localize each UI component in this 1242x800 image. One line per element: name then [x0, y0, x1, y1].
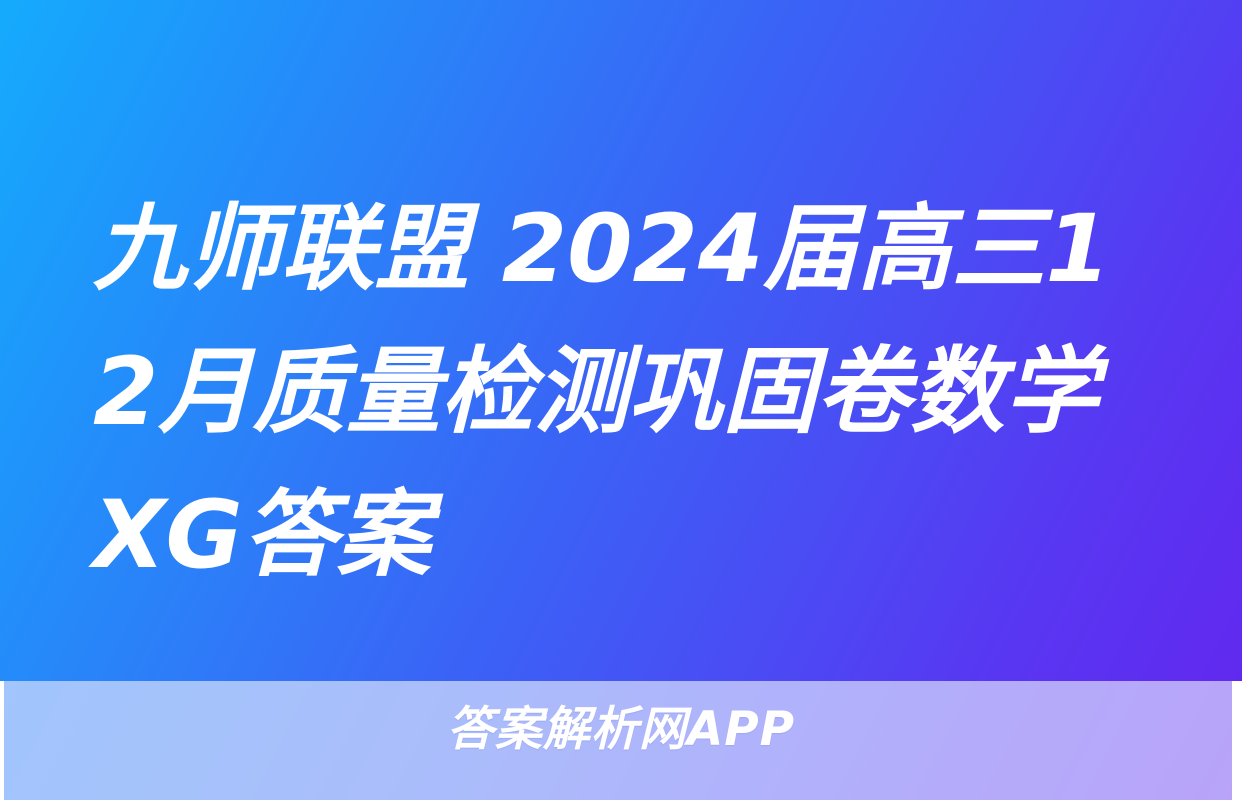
page-title: 九师联盟 2024届高三12月质量检测巩固卷数学XG答案	[93, 178, 1165, 607]
site-watermark: 答案解析网APP	[0, 702, 1242, 758]
answer-banner-card: 九师联盟 2024届高三12月质量检测巩固卷数学XG答案 答案解析网APP	[0, 0, 1242, 800]
hero-gradient-panel: 九师联盟 2024届高三12月质量检测巩固卷数学XG答案	[0, 0, 1242, 681]
